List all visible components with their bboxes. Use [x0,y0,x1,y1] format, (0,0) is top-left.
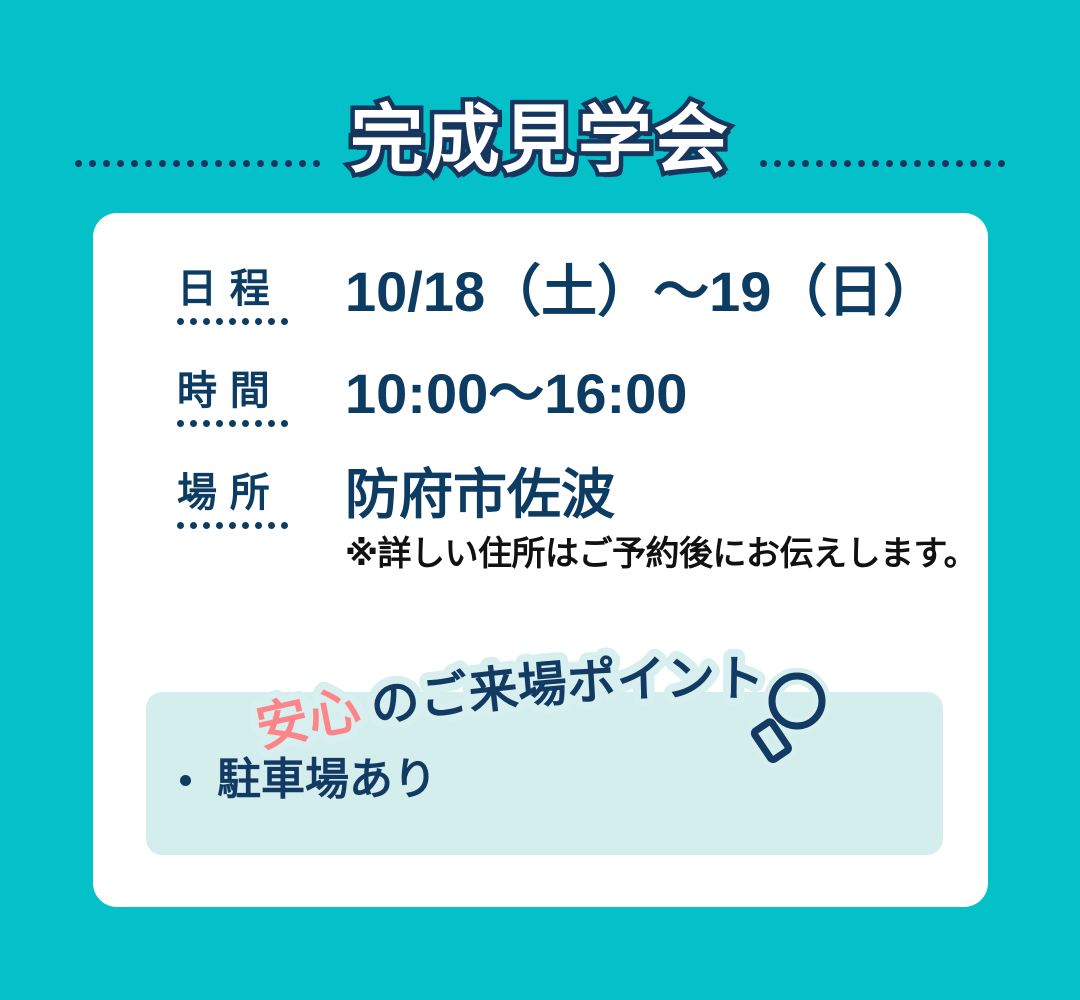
event-detail-list: 日程 10/18（土）〜19（日） 時間 10:00〜16:00 [175,263,975,574]
detail-note-place: ※詳しい住所はご予約後にお伝えします。 [345,534,977,575]
bullet-icon [180,775,191,786]
dotted-rule-right-icon [760,160,1005,167]
detail-row-time: 時間 10:00〜16:00 [175,365,975,427]
detail-label-place-text: 場所 [175,473,335,513]
detail-row-place: 場所 防府市佐波 ※詳しい住所はご予約後にお伝えします。 [175,467,975,574]
detail-label-time: 時間 [175,365,335,427]
points-list: 駐車場あり [180,758,437,802]
point-text: 駐車場あり [217,758,437,802]
label-underline-dots-icon [175,318,335,325]
page-title: 完成見学会 [320,103,760,177]
page-header: 完成見学会 [0,92,1080,188]
detail-value-place-text: 防府市佐波 [345,467,977,524]
label-underline-dots-icon [175,420,335,427]
detail-value-time-text: 10:00〜16:00 [345,365,975,424]
detail-value-place: 防府市佐波 ※詳しい住所はご予約後にお伝えします。 [335,467,977,574]
detail-label-time-text: 時間 [175,371,335,411]
detail-label-date-text: 日程 [175,269,335,309]
event-info-card: 日程 10/18（土）〜19（日） 時間 10:00〜16:00 [93,213,988,907]
detail-row-date: 日程 10/18（土）〜19（日） [175,263,975,325]
detail-value-time: 10:00〜16:00 [335,365,975,424]
detail-value-date: 10/18（土）〜19（日） [335,263,975,322]
magnifying-glass-icon [750,668,830,773]
label-underline-dots-icon [175,522,335,529]
dotted-rule-left-icon [75,160,320,167]
detail-label-date: 日程 [175,263,335,325]
detail-value-date-text: 10/18（土）〜19（日） [345,263,975,322]
detail-label-place: 場所 [175,467,335,529]
list-item: 駐車場あり [180,758,437,802]
